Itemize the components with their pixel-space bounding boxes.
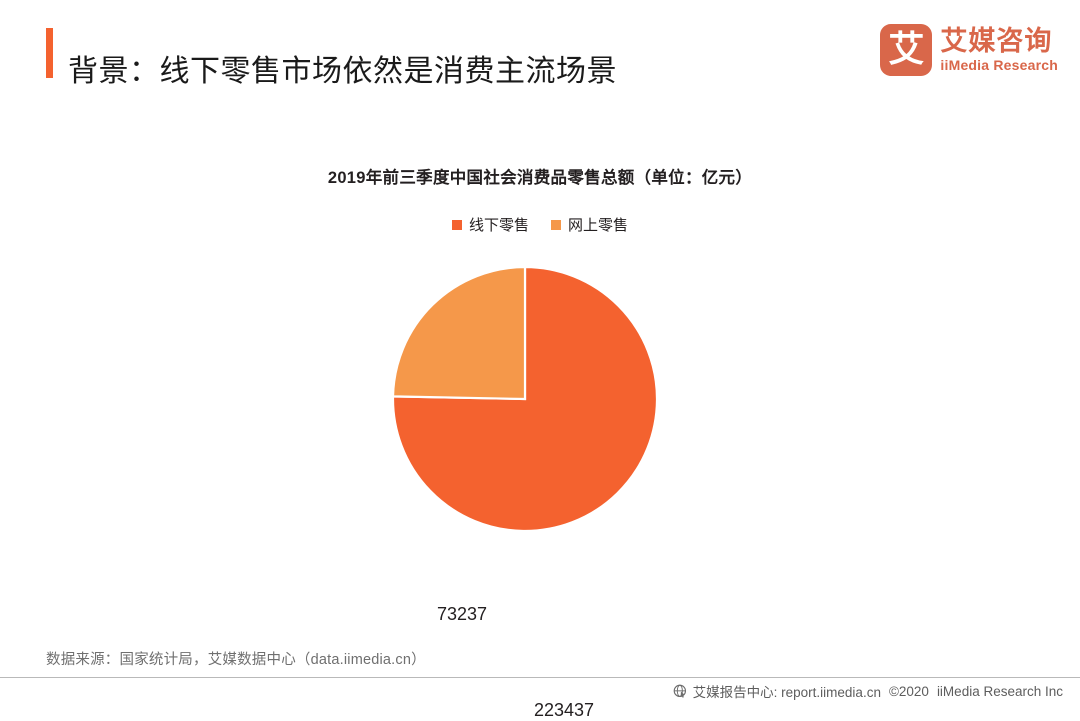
title-accent-bar bbox=[46, 28, 53, 78]
page-header: 背景：线下零售市场依然是消费主流场景 艾 艾媒咨询 iiMedia Resear… bbox=[0, 0, 1080, 110]
legend-swatch-offline bbox=[452, 220, 462, 230]
page-title: 背景：线下零售市场依然是消费主流场景 bbox=[68, 46, 617, 98]
pie-slice-online[interactable] bbox=[393, 267, 525, 399]
legend-swatch-online bbox=[551, 220, 561, 230]
iimedia-logo-mark: 艾 bbox=[880, 24, 932, 76]
logo-glyph: 艾 bbox=[888, 31, 924, 69]
footer-bar: 艾媒报告中心: report.iimedia.cn ©2020 iiMedia … bbox=[673, 681, 1066, 701]
pie-label-offline: 223437 bbox=[534, 700, 594, 721]
footer-divider bbox=[0, 677, 1080, 678]
pie-label-online: 73237 bbox=[437, 604, 487, 625]
brand-logo: 艾 艾媒咨询 iiMedia Research bbox=[880, 24, 1058, 76]
chart-title: 2019年前三季度中国社会消费品零售总额（单位：亿元） bbox=[0, 150, 1080, 188]
legend-item-online[interactable]: 网上零售 bbox=[551, 214, 628, 235]
legend-item-offline[interactable]: 线下零售 bbox=[452, 214, 529, 235]
chart-legend: 线下零售 网上零售 bbox=[0, 214, 1080, 235]
footer-report-center[interactable]: 艾媒报告中心: report.iimedia.cn bbox=[693, 681, 881, 701]
brand-name-en: iiMedia Research bbox=[940, 58, 1058, 72]
legend-label-online: 网上零售 bbox=[568, 214, 628, 235]
brand-name-cn: 艾媒咨询 bbox=[940, 28, 1058, 55]
pie-chart bbox=[393, 266, 657, 532]
pie-chart-area: 73237 223437 bbox=[0, 266, 1080, 546]
data-source-note: 数据来源：国家统计局，艾媒数据中心（data.iimedia.cn） bbox=[46, 648, 426, 669]
footer-company: iiMedia Research Inc bbox=[937, 684, 1063, 699]
footer-copyright: ©2020 bbox=[889, 684, 929, 699]
globe-icon bbox=[673, 684, 688, 699]
legend-label-offline: 线下零售 bbox=[469, 214, 529, 235]
chart-container: 2019年前三季度中国社会消费品零售总额（单位：亿元） 线下零售 网上零售 73… bbox=[0, 150, 1080, 235]
brand-wordmark: 艾媒咨询 iiMedia Research bbox=[940, 28, 1058, 72]
